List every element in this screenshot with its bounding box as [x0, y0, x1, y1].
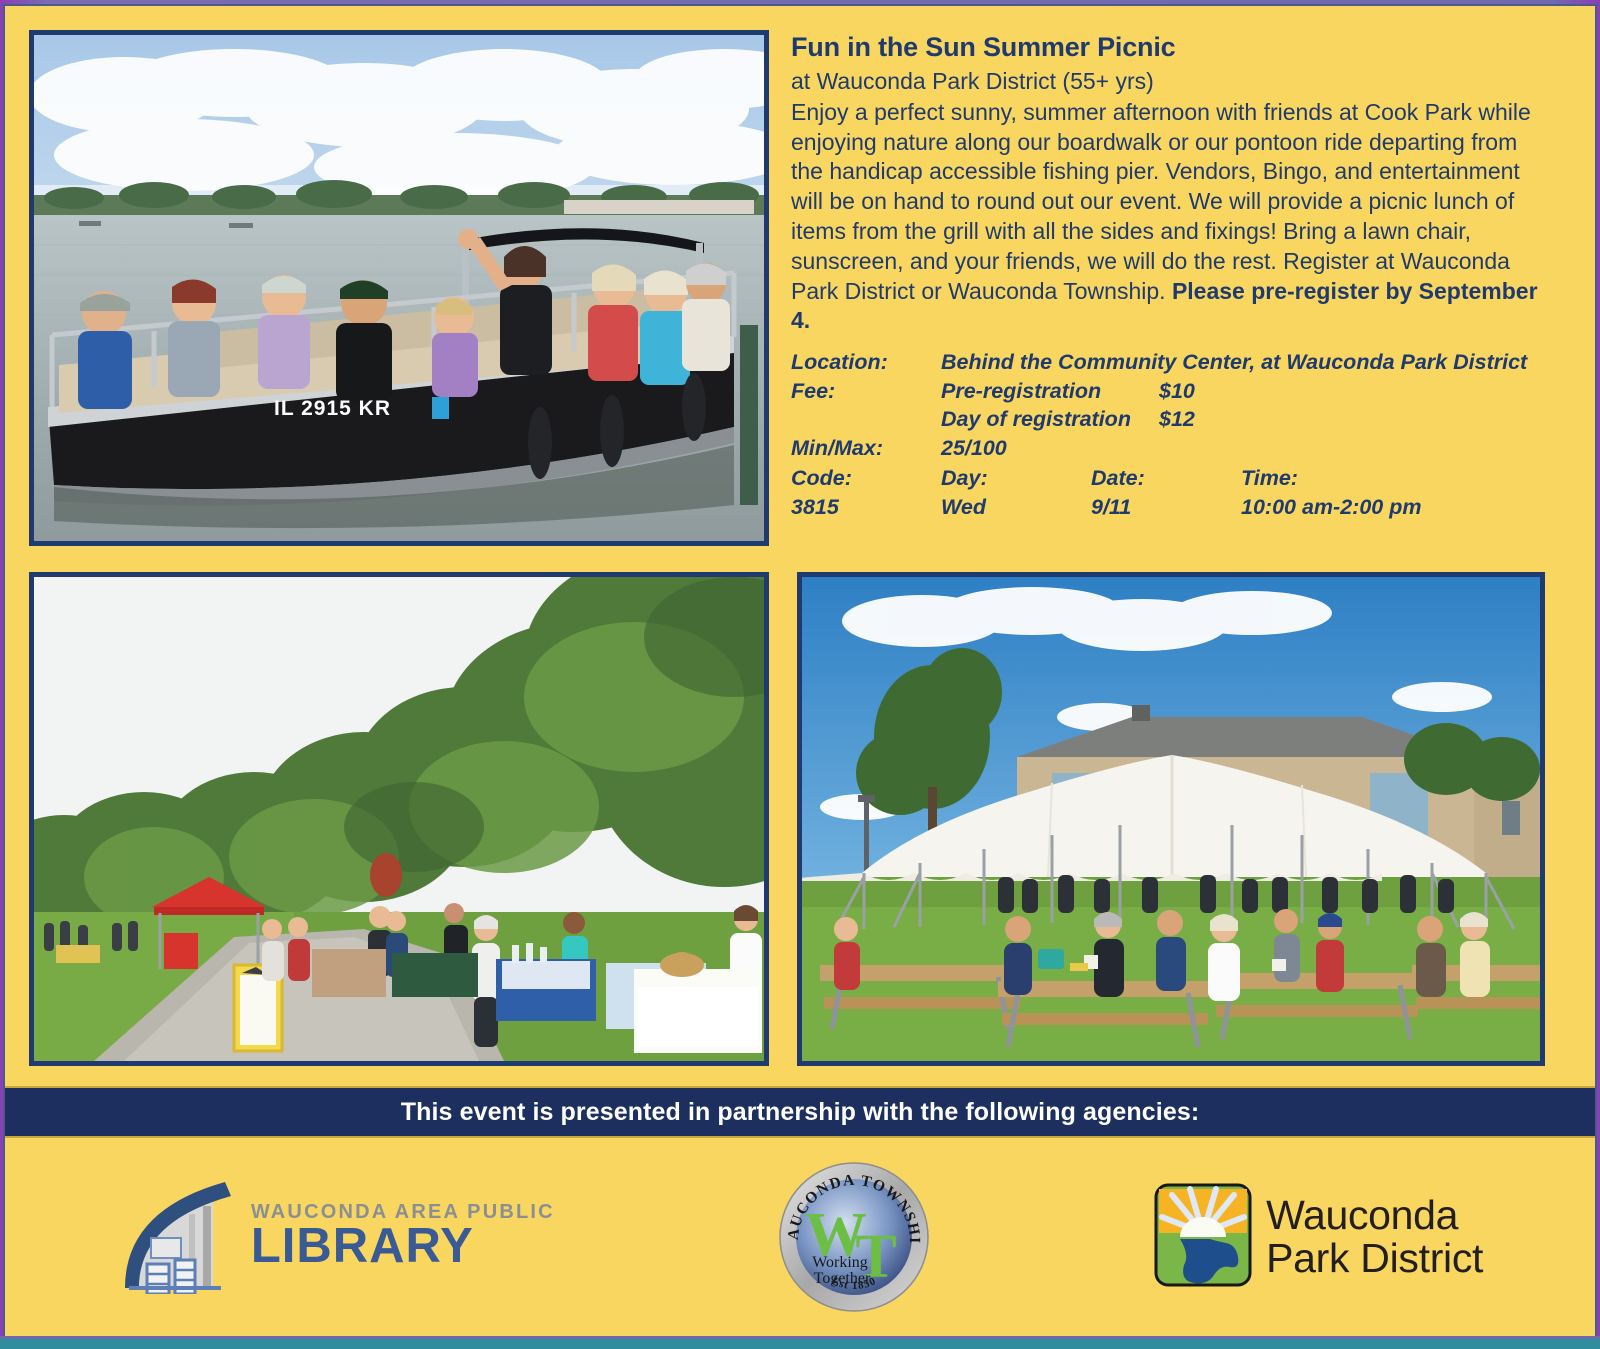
svg-text:Together: Together	[814, 1270, 871, 1287]
event-subtitle: at Wauconda Park District (55+ yrs)	[791, 67, 1547, 96]
date-label: Date:	[1091, 464, 1241, 493]
svg-text:Working: Working	[813, 1254, 869, 1271]
code-value: 3815	[791, 493, 941, 522]
fee-day-value: $12	[1159, 405, 1547, 434]
township-seal-icon: WAUCONDA TOWNSHIP Est 1850 W T Working T…	[778, 1161, 930, 1313]
event-details-table: Location: Behind the Community Center, a…	[791, 348, 1547, 522]
page-title: Fun in the Sun Summer Picnic	[791, 32, 1547, 64]
svg-text:IL 2915 KR: IL 2915 KR	[274, 397, 391, 420]
time-value: 10:00 am-2:00 pm	[1241, 493, 1547, 522]
fee-pre-value: $10	[1159, 377, 1547, 406]
pontoon-boat-photo-illustration: IL 2915 KR	[34, 35, 764, 541]
detail-row-schedule-headers: Code: Day: Date: Time:	[791, 464, 1547, 493]
library-building-icon	[117, 1176, 237, 1299]
library-main-line: LIBRARY	[251, 1222, 555, 1272]
detail-row-schedule-values: 3815 Wed 9/11 10:00 am-2:00 pm	[791, 493, 1547, 522]
partnership-banner: This event is presented in partnership w…	[5, 1086, 1595, 1138]
partner-logos-row: WAUCONDA AREA PUBLIC LIBRARY	[5, 1142, 1595, 1332]
fee-day-label: Day of registration	[941, 405, 1159, 434]
library-logo-text: WAUCONDA AREA PUBLIC LIBRARY	[251, 1202, 555, 1272]
day-value: Wed	[941, 493, 1091, 522]
fee-label: Fee:	[791, 377, 941, 406]
time-label: Time:	[1241, 464, 1547, 493]
park-district-logo[interactable]: Wauconda Park District	[1154, 1183, 1483, 1292]
detail-row-location: Location: Behind the Community Center, a…	[791, 348, 1547, 377]
partnership-banner-text: This event is presented in partnership w…	[401, 1098, 1200, 1127]
detail-row-minmax: Min/Max: 25/100	[791, 434, 1547, 463]
minmax-value: 25/100	[941, 434, 1547, 463]
poster-outer-frame: IL 2915 KR	[0, 0, 1600, 1349]
park-district-line2: Park District	[1266, 1237, 1483, 1280]
library-logo[interactable]: WAUCONDA AREA PUBLIC LIBRARY	[117, 1176, 555, 1299]
vendor-tables-photo	[29, 572, 769, 1066]
fee-pre-label: Pre-registration	[941, 377, 1159, 406]
location-label: Location:	[791, 348, 941, 377]
event-description-plain: Enjoy a perfect sunny, summer afternoon …	[791, 99, 1531, 304]
event-text-column: Fun in the Sun Summer Picnic at Wauconda…	[791, 32, 1547, 522]
picnic-tent-photo	[797, 572, 1545, 1066]
detail-row-fee-pre: Fee: Pre-registration $10	[791, 377, 1547, 406]
township-logo[interactable]: WAUCONDA TOWNSHIP Est 1850 W T Working T…	[778, 1161, 930, 1313]
date-value: 9/11	[1091, 493, 1241, 522]
park-district-line1: Wauconda	[1266, 1194, 1483, 1237]
minmax-label: Min/Max:	[791, 434, 941, 463]
pontoon-boat-photo: IL 2915 KR	[29, 30, 769, 546]
bottom-teal-stripe	[0, 1339, 1600, 1349]
detail-row-fee-day: Day of registration $12	[791, 405, 1547, 434]
picnic-tent-photo-illustration	[802, 577, 1540, 1061]
event-description: Enjoy a perfect sunny, summer afternoon …	[791, 98, 1547, 336]
code-label: Code:	[791, 464, 941, 493]
poster-page: IL 2915 KR	[5, 6, 1595, 1339]
fee-label-spacer	[791, 405, 941, 434]
location-value: Behind the Community Center, at Wauconda…	[941, 348, 1547, 377]
park-district-logo-text: Wauconda Park District	[1266, 1194, 1483, 1279]
vendor-tables-photo-illustration	[34, 577, 764, 1061]
day-label: Day:	[941, 464, 1091, 493]
park-district-sun-lake-icon	[1154, 1183, 1252, 1292]
